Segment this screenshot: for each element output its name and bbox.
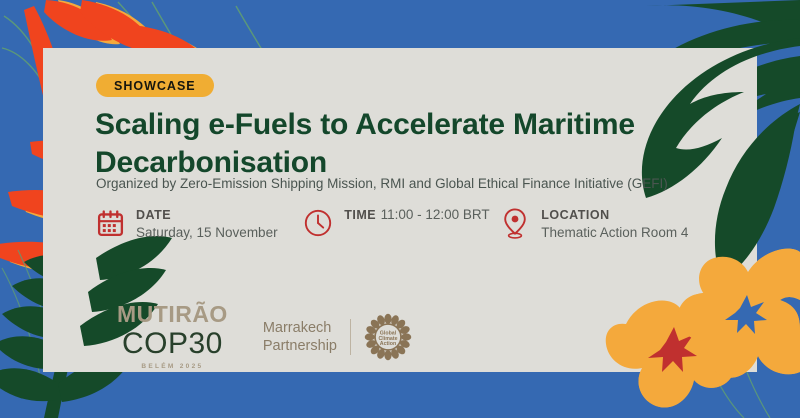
- calendar-icon: [95, 206, 125, 240]
- event-poster: SHOWCASE Scaling e-Fuels to Accelerate M…: [0, 0, 800, 418]
- meta-location-text: LOCATION Thematic Action Room 4: [541, 206, 745, 242]
- organizer-text: Organized by Zero-Emission Shipping Miss…: [96, 175, 756, 193]
- meta-location-label: LOCATION: [541, 208, 609, 222]
- showcase-badge: SHOWCASE: [96, 74, 214, 97]
- meta-date-label: DATE: [136, 208, 171, 222]
- emblem-line-3: Action: [380, 341, 396, 347]
- clock-icon: [303, 206, 333, 240]
- location-pin-icon: [500, 206, 530, 240]
- meta-date-text: DATE Saturday, 15 November: [136, 206, 303, 242]
- global-climate-action-emblem: Global Climate Action: [364, 313, 412, 361]
- meta-item-time: TIME 11:00 - 12:00 BRT: [303, 206, 500, 240]
- marrakech-partnership-logo: Marrakech Partnership: [263, 313, 412, 361]
- marrakech-line-1: Marrakech: [263, 319, 337, 337]
- card-content: SHOWCASE Scaling e-Fuels to Accelerate M…: [43, 48, 757, 372]
- showcase-badge-label: SHOWCASE: [114, 79, 196, 93]
- page-title: Scaling e-Fuels to Accelerate Maritime D…: [95, 106, 715, 182]
- cop30-logo-belem: BELÉM 2025: [117, 364, 228, 371]
- meta-location-value: Thematic Action Room 4: [541, 225, 688, 240]
- meta-time-text: TIME 11:00 - 12:00 BRT: [344, 206, 489, 224]
- meta-time-label: TIME: [344, 208, 376, 222]
- title-line-1: Scaling e-Fuels to Accelerate Maritime: [95, 106, 715, 144]
- cop30-logo-cop30: COP30: [117, 329, 228, 359]
- marrakech-line-2: Partnership: [263, 337, 337, 355]
- logo-row: MUTIRÃO COP30 BELÉM 2025 Marrakech Partn…: [117, 303, 412, 371]
- cop30-logo-mutirao: MUTIRÃO: [117, 303, 228, 326]
- cop30-logo: MUTIRÃO COP30 BELÉM 2025: [117, 303, 228, 371]
- event-meta-row: DATE Saturday, 15 November TIME 11:00 - …: [95, 206, 745, 242]
- meta-item-date: DATE Saturday, 15 November: [95, 206, 303, 242]
- marrakech-partnership-text: Marrakech Partnership: [263, 319, 351, 355]
- meta-time-value: 11:00 - 12:00 BRT: [381, 207, 490, 222]
- meta-date-value: Saturday, 15 November: [136, 225, 278, 240]
- meta-item-location: LOCATION Thematic Action Room 4: [500, 206, 745, 242]
